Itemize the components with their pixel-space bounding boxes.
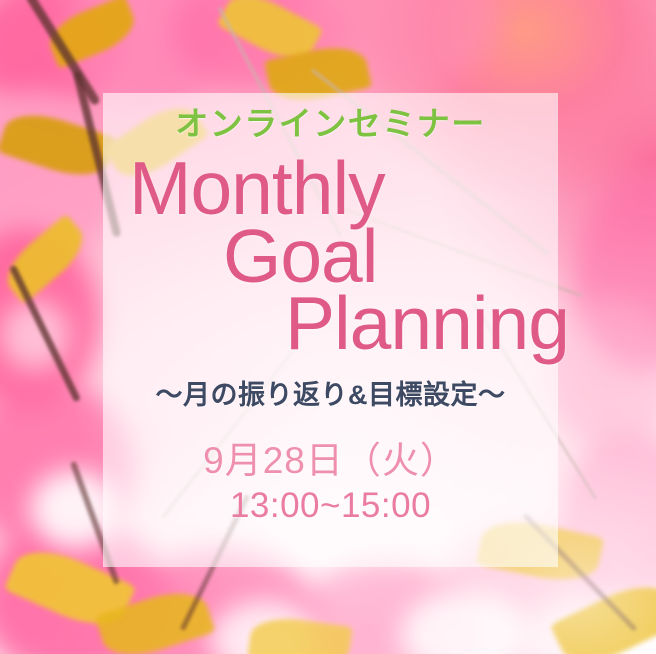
event-date: 9月28日（火）: [203, 430, 458, 484]
subtitle: 〜月の振り返り&目標設定〜: [156, 373, 506, 412]
main-title: Monthly Goal Planning: [103, 152, 558, 361]
title-line-planning: Planning: [103, 287, 558, 361]
content-card: オンラインセミナー Monthly Goal Planning 〜月の振り返り&…: [103, 93, 558, 567]
event-time: 13:00~15:00: [230, 486, 431, 526]
seminar-type-label: オンラインセミナー: [175, 107, 486, 140]
seminar-poster: オンラインセミナー Monthly Goal Planning 〜月の振り返り&…: [0, 0, 656, 654]
